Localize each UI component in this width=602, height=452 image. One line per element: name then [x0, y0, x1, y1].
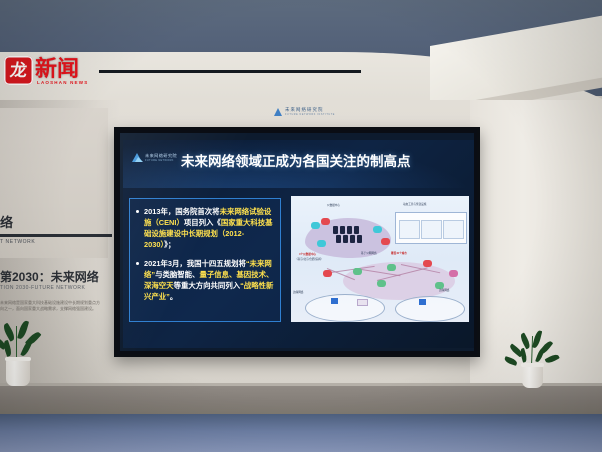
- diagram-node: [449, 270, 458, 277]
- exhibit-panel-title-en: TION 2030-FUTURE NETWORK: [0, 285, 108, 291]
- diagram-centers-label: 4个公数据中心: [299, 252, 316, 256]
- edge-network-group: [305, 294, 385, 322]
- slide-logo-subtitle: FUTURE NETWORK: [145, 159, 174, 162]
- exhibit-panel-body: 未来网络是国家重大科技基础设施建设中长期规划重点方向之一，面向国家重大战略需求，…: [0, 300, 100, 312]
- bullet-text: 等重大方向共同列入: [174, 281, 241, 290]
- edge-device-icon: [331, 298, 338, 304]
- wall-sign: 未来网络研究院 FUTURE NETWORK INSTITUTE: [274, 106, 360, 120]
- bullet-text: 》；: [164, 240, 175, 249]
- potted-plant-left: [0, 318, 46, 388]
- bullet-text: 。: [170, 292, 177, 301]
- diagram-backbone-highlight: 覆盖40个城市: [391, 251, 407, 255]
- diagram-cloud-caption: 公数据中心: [327, 203, 340, 207]
- diagram-node: [353, 268, 362, 275]
- counter-front: [0, 386, 602, 416]
- slide: 未来网络研究院 FUTURE NETWORK 未来网络领域正成为各国关注的制高点…: [123, 140, 474, 348]
- channel-name: 新闻: [35, 56, 79, 81]
- channel-mark-icon: 龙: [4, 56, 33, 85]
- diagram-centers-sublabel: （南京/北京/合肥/深圳）: [295, 257, 323, 261]
- slide-title: 未来网络领域正成为各国关注的制高点: [181, 150, 471, 170]
- diagram-node: [311, 222, 320, 229]
- diagram-facility-panel: [395, 212, 467, 244]
- bullet-text: 项目列入《: [184, 218, 221, 227]
- diagram-edge-label-right: 边缘网络: [439, 288, 449, 292]
- diagram-node: [321, 218, 330, 225]
- channel-logo-bug: 龙 新闻 LAOSHAN NEWS: [4, 56, 99, 86]
- photo-scene: 络 T NETWORK 第2030：未来网络 TION 2030-FUTURE …: [0, 0, 602, 452]
- diagram-edge-label: 边缘网络: [293, 290, 303, 294]
- exhibit-panel-heading: 络: [0, 212, 92, 231]
- diagram-panel-caption: 动态工具与传送设施: [403, 202, 426, 206]
- network-architecture-diagram: 公数据中心 动态工具与传送设施: [291, 196, 469, 322]
- wall-sign-subtitle: FUTURE NETWORK INSTITUTE: [285, 113, 335, 116]
- slide-logo: 未来网络研究院 FUTURE NETWORK: [132, 152, 176, 165]
- edge-device-icon: [419, 299, 426, 305]
- slide-bullet-box: 2013年，国务院首次将未来网络试验设施（CENI）项目列入《国家重大科技基础设…: [129, 198, 281, 322]
- bullet-text: 与类脑智能、: [155, 270, 199, 279]
- mountain-icon: [274, 108, 282, 116]
- channel-pinyin: LAOSHAN NEWS: [37, 80, 88, 85]
- bullet-text: 2021年3月，我国十四五规划将: [144, 259, 246, 268]
- diagram-backbone-label: 基于公网网络: [361, 251, 377, 255]
- presentation-screen[interactable]: 未来网络研究院 FUTURE NETWORK 未来网络领域正成为各国关注的制高点…: [114, 127, 480, 357]
- bullet-item: 2021年3月，我国十四五规划将“未来网络”与类脑智能、量子信息、基因技术、深海…: [136, 258, 275, 302]
- diagram-node: [323, 270, 332, 277]
- exhibit-panel-heading-en: T NETWORK: [0, 239, 98, 245]
- exhibit-panel-title: 第2030：未来网络: [0, 268, 106, 285]
- bullet-text: 2013年，国务院首次将: [144, 207, 220, 216]
- diagram-node: [373, 226, 382, 233]
- diagram-node: [317, 240, 326, 247]
- floor: [0, 414, 602, 452]
- diagram-node: [381, 238, 390, 245]
- lower-third-rule: [99, 70, 361, 73]
- edge-device-icon: [357, 299, 368, 306]
- exhibit-panel: 络 T NETWORK 第2030：未来网络 TION 2030-FUTURE …: [0, 108, 108, 258]
- potted-plant-right: [512, 330, 554, 388]
- channel-logo-glyph: 龙: [6, 57, 32, 84]
- diagram-node: [387, 264, 396, 271]
- screen-surface: 未来网络研究院 FUTURE NETWORK 未来网络领域正成为各国关注的制高点…: [120, 133, 474, 351]
- diagram-node: [423, 260, 432, 267]
- edge-network-group: [395, 296, 465, 322]
- diagram-node: [377, 280, 386, 287]
- server-rack-icons: [333, 226, 367, 246]
- exhibit-panel-divider: [0, 234, 112, 237]
- bullet-item: 2013年，国务院首次将未来网络试验设施（CENI）项目列入《国家重大科技基础设…: [136, 206, 275, 250]
